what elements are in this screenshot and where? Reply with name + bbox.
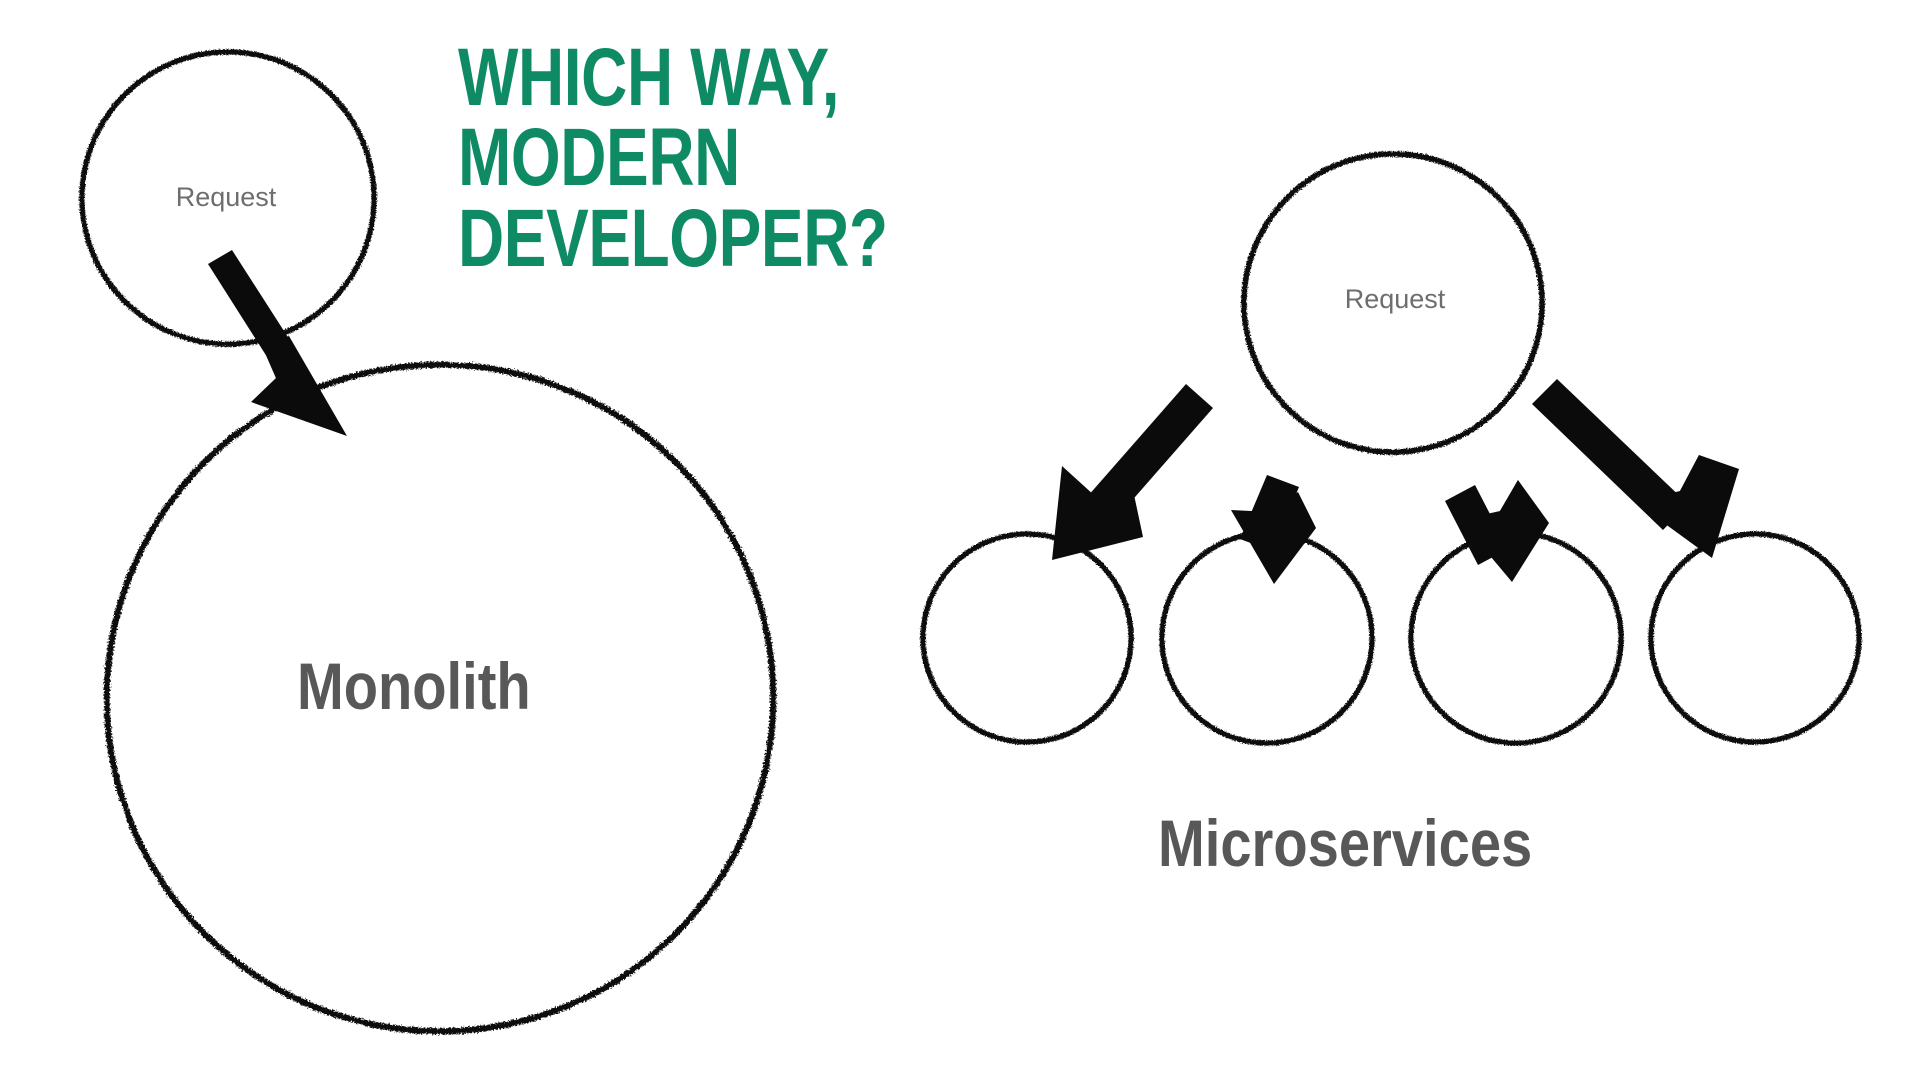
arrow-request-to-service-1 [1052, 384, 1213, 560]
arrow-request-to-service-2 [1231, 475, 1316, 584]
arrow-request-to-service-4 [1532, 379, 1739, 558]
right-request-label: Request [1295, 284, 1495, 315]
service-circle-4 [1650, 533, 1861, 744]
page-title: Which way, modern developer? [458, 38, 1098, 279]
diagram-canvas: Which way, modern developer? Request Req… [0, 0, 1920, 1080]
arrow-request-to-service-3 [1445, 480, 1549, 582]
monolith-heading: Monolith [297, 648, 531, 724]
left-request-label: Request [126, 182, 326, 213]
microservices-heading: Microservices [1158, 805, 1532, 881]
service-circle-1 [922, 533, 1133, 744]
